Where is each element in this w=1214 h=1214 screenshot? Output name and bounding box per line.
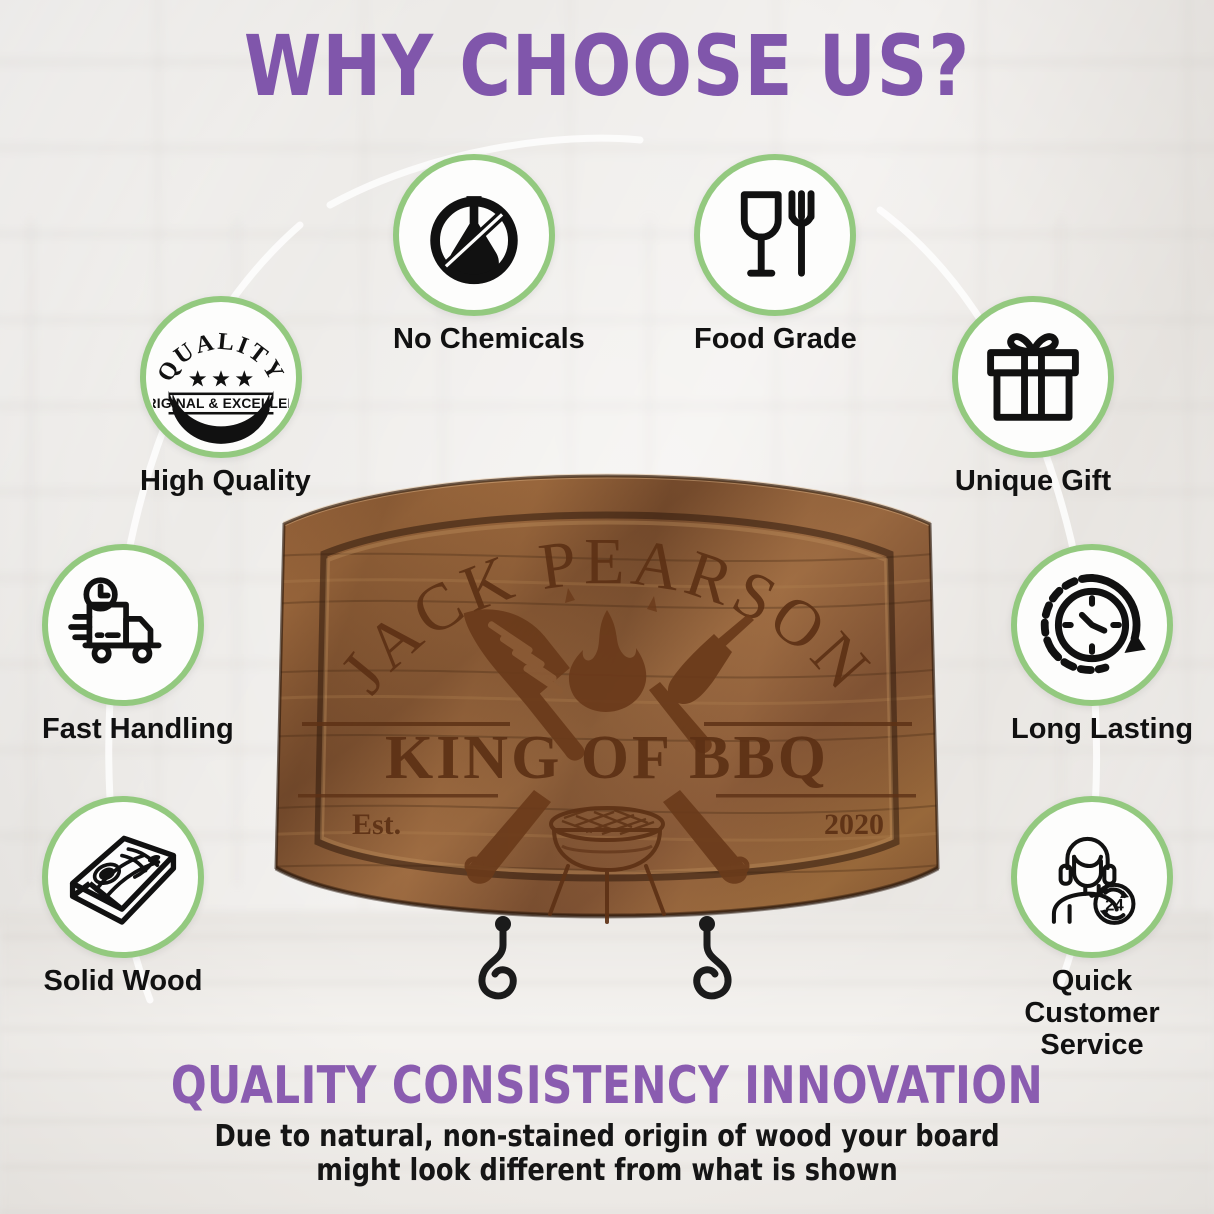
unique-gift-badge-circle (952, 296, 1114, 458)
disclaimer-line-2: might look different from what is shown (30, 1154, 1183, 1188)
headset-agent-24-icon: 24 (1036, 821, 1148, 933)
high-quality-label: High Quality (140, 465, 302, 497)
long-lasting-label: Long Lasting (1011, 713, 1173, 745)
seal-banner-text: ORIGINAL & EXCELLENT (153, 396, 289, 411)
feature-food-grade[interactable]: Food Grade (694, 154, 856, 355)
glass-fork-food-grade-icon (722, 182, 828, 288)
delivery-truck-clock-icon (67, 569, 179, 681)
feature-fast-handling[interactable]: Fast Handling (42, 544, 204, 745)
page-title: WHY CHOOSE US? (42, 17, 1171, 115)
infographic-canvas: WHY CHOOSE US? No Chemicals (0, 0, 1214, 1214)
food-grade-label: Food Grade (694, 323, 856, 355)
clock-arrow-icon (1036, 569, 1148, 681)
gift-box-icon (980, 324, 1086, 430)
fast-handling-badge-circle (42, 544, 204, 706)
food-grade-badge-circle (694, 154, 856, 316)
solid-wood-label: Solid Wood (42, 965, 204, 997)
quick-service-label-line2: Customer Service (977, 997, 1207, 1061)
feature-quick-customer-service[interactable]: 24 Quick Customer Service (1011, 796, 1173, 1061)
quick-service-label-line1: Quick (992, 965, 1192, 997)
quality-seal-icon: QUALITY GUARANTEED ORIGINAL & EXCELLENT (153, 309, 289, 445)
flask-no-chemicals-icon (420, 181, 528, 289)
wood-plank-icon (64, 818, 182, 936)
badge-24-text: 24 (1105, 896, 1124, 915)
footer-headline: QUALITY CONSISTENCY INNOVATION (61, 1056, 1154, 1116)
feature-high-quality[interactable]: QUALITY GUARANTEED ORIGINAL & EXCELLENT … (140, 296, 302, 497)
unique-gift-label: Unique Gift (952, 465, 1114, 497)
cutting-board-graphic (262, 438, 952, 958)
disclaimer-line-1: Due to natural, non-stained origin of wo… (30, 1120, 1183, 1154)
fast-handling-label: Fast Handling (42, 713, 204, 745)
solid-wood-badge-circle (42, 796, 204, 958)
feature-solid-wood[interactable]: Solid Wood (42, 796, 204, 997)
feature-no-chemicals[interactable]: No Chemicals (393, 154, 555, 355)
iron-display-stand (455, 915, 755, 1025)
footer-disclaimer: Due to natural, non-stained origin of wo… (30, 1120, 1183, 1188)
quick-service-badge-circle: 24 (1011, 796, 1173, 958)
feature-unique-gift[interactable]: Unique Gift (952, 296, 1114, 497)
product-cutting-board[interactable]: JACK PEARSON (262, 438, 952, 958)
no-chemicals-badge-circle (393, 154, 555, 316)
feature-long-lasting[interactable]: Long Lasting (1011, 544, 1173, 745)
no-chemicals-label: No Chemicals (393, 323, 555, 355)
long-lasting-badge-circle (1011, 544, 1173, 706)
high-quality-badge-circle: QUALITY GUARANTEED ORIGINAL & EXCELLENT (140, 296, 302, 458)
